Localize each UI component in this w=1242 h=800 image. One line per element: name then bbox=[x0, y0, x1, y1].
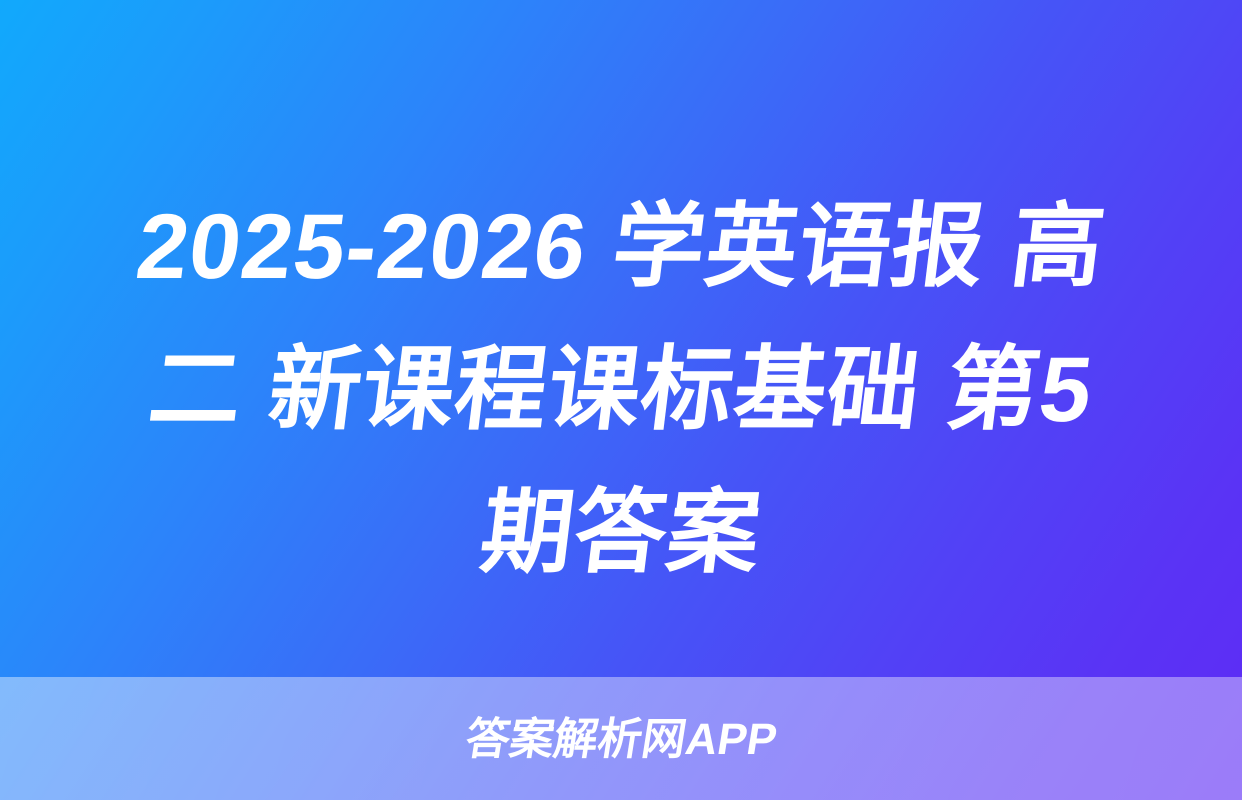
title-line-3: 期答案 bbox=[51, 462, 1191, 605]
promo-title-card: 2025-2026 学英语报 高 二 新课程课标基础 第5 期答案 答案解析网A… bbox=[0, 0, 1242, 800]
title-line-2: 二 新课程课标基础 第5 bbox=[51, 319, 1191, 462]
title-block: 2025-2026 学英语报 高 二 新课程课标基础 第5 期答案 bbox=[0, 176, 1242, 636]
footer-brand-band: 答案解析网APP bbox=[0, 677, 1242, 800]
title-line-1: 2025-2026 学英语报 高 bbox=[51, 176, 1191, 319]
app-brand-label: 答案解析网APP bbox=[462, 718, 779, 762]
